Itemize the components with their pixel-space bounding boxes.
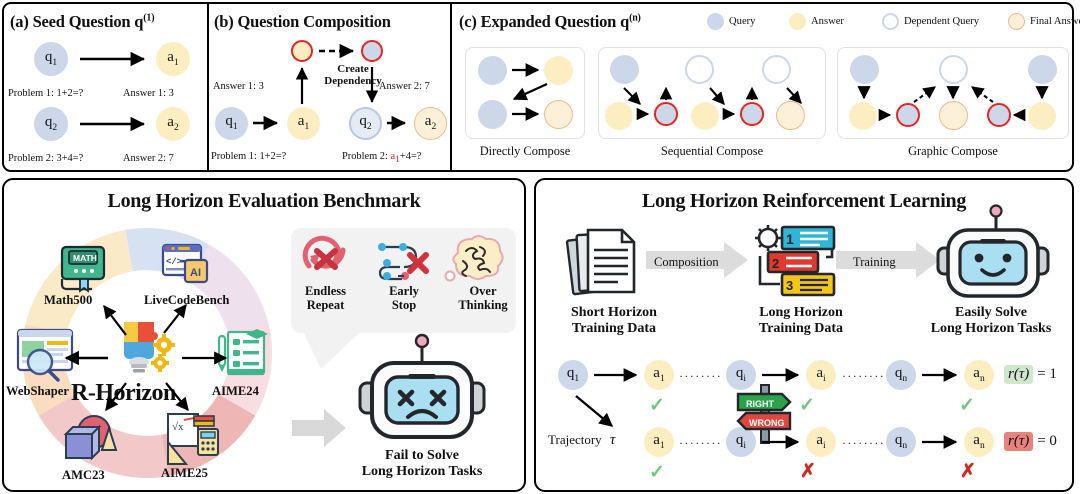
signpost-right-label: RIGHT <box>746 399 775 409</box>
legend-final-answer-label: Final Answer <box>1030 16 1080 27</box>
gc-linked-query-2 <box>987 103 1011 127</box>
legend-final-answer: Final Answer <box>1008 13 1080 30</box>
rl-node-qn-top: qn <box>886 360 916 390</box>
svg-text:AI: AI <box>190 267 201 279</box>
reward-value-top: = 1 <box>1037 366 1057 383</box>
mark-cross-bottom-1: ✗ <box>800 460 816 483</box>
legend-answer: Answer <box>789 13 844 30</box>
center-label-r-horizon: R-Horizon <box>71 380 176 407</box>
benchmark-outcome-text: Fail to Solve Long Horizon Tasks <box>342 448 502 480</box>
stage-label-long-horizon: Long Horizon Training Data <box>741 305 861 337</box>
node-a2: a2 <box>414 107 447 140</box>
svg-text:3: 3 <box>786 278 793 293</box>
code-window-icon: </> AI <box>161 243 217 293</box>
geometry-shapes-icon <box>60 414 122 468</box>
sc-linked-query-1 <box>654 102 678 126</box>
sc-dependent-query-2 <box>762 55 791 84</box>
gc-final-answer <box>939 101 968 130</box>
mark-check-top-3: ✓ <box>959 394 975 417</box>
subpanel-caption-sequential-compose: Sequential Compose <box>598 144 826 159</box>
sc-answer-2 <box>691 102 719 130</box>
failure-callout-box <box>291 228 516 333</box>
figure-root: (a) Seed Question q(1) q1 a1 Problem 1: … <box>0 0 1080 494</box>
legend-answer-swatch <box>789 13 806 30</box>
rl-node-an-top: an <box>964 360 994 390</box>
node-q2: q2 <box>349 107 382 140</box>
svg-text:√x: √x <box>172 421 184 433</box>
svg-text:1: 1 <box>786 231 794 247</box>
panel-a-title-sup: (1) <box>143 13 154 24</box>
rl-ellipsis-bottom-1: ········ <box>679 436 722 451</box>
rl-node-a1-top: a1 <box>644 360 674 390</box>
sc-answer-1 <box>605 102 633 130</box>
documents-stack-icon <box>568 226 648 298</box>
panel-reinforcement-learning: Long Horizon Reinforcement Learning Shor… <box>534 178 1074 492</box>
checklist-icon <box>216 328 274 384</box>
top-strip: (a) Seed Question q(1) q1 a1 Problem 1: … <box>2 2 1074 172</box>
mark-check-top-2: ✓ <box>799 394 815 417</box>
calculator-icon: √x <box>164 412 226 468</box>
failure-label-early-stop: Early Stop <box>369 284 439 312</box>
svg-text:2: 2 <box>772 256 779 271</box>
stage-label-short-horizon: Short Horizon Training Data <box>554 305 674 337</box>
dc-query-1 <box>478 56 507 85</box>
gc-linked-query-1 <box>896 103 920 127</box>
sc-query-1 <box>610 55 639 84</box>
rl-node-ai-top: ai <box>806 360 836 390</box>
node-a1: a1 <box>287 107 320 140</box>
gc-query-2 <box>1028 55 1057 84</box>
answer-2-caption: Answer 2: 7 <box>123 153 174 164</box>
rl-node-qn-bottom: qn <box>886 427 916 457</box>
rl-ellipsis-bottom-2: ········ <box>842 436 885 451</box>
rl-title: Long Horizon Reinforcement Learning <box>536 190 1072 213</box>
legend-final-answer-swatch <box>1008 13 1025 30</box>
legend-dependent-query: Dependent Query <box>882 13 979 30</box>
problem-1-caption: Problem 1: 1+2=? <box>8 88 83 99</box>
dc-final-answer <box>544 100 573 129</box>
panel-b-problem-2: Problem 2: a1+4=? <box>342 151 421 165</box>
rl-node-ai-bottom: ai <box>806 427 836 457</box>
composition-arrow-label: Composition <box>654 255 719 270</box>
node-label: a1 <box>167 50 178 69</box>
panel-evaluation-benchmark: Long Horizon Evaluation Benchmark <box>2 178 526 492</box>
failure-label-over-thinking: Over Thinking <box>444 284 522 312</box>
reward-chip-bottom: r(τ) <box>1004 432 1033 451</box>
svg-text:</>: </> <box>166 257 182 267</box>
rl-node-qi-top: qi <box>726 360 756 390</box>
legend-query-swatch <box>707 13 724 30</box>
node-a1: a1 <box>156 42 190 76</box>
panel-c-title: (c) Expanded Question q(n) <box>459 12 641 32</box>
rl-node-q1-top: q1 <box>558 360 588 390</box>
panel-c: (c) Expanded Question q(n) Query Answer … <box>452 4 1072 170</box>
benchmark-label-math500: Math500 <box>44 293 92 308</box>
dc-answer-1 <box>544 56 573 85</box>
benchmark-label-aime24: AIME24 <box>212 384 259 399</box>
legend-dependent-query-swatch <box>882 13 899 30</box>
legend-dependent-query-label: Dependent Query <box>904 16 979 27</box>
legend-answer-label: Answer <box>811 16 844 27</box>
sad-robot-icon <box>356 335 488 455</box>
benchmark-label-aime25: AIME25 <box>161 466 208 481</box>
failure-label-endless-repeat: Endless Repeat <box>288 284 363 312</box>
web-search-icon <box>16 328 78 384</box>
node-q2: q2 <box>34 107 68 141</box>
answer-1-caption: Answer 1: 3 <box>123 88 174 99</box>
panel-b-title: (b) Question Composition <box>214 12 391 32</box>
sc-final-answer <box>776 101 805 130</box>
sc-linked-query-2 <box>740 102 764 126</box>
node-dep-query-top <box>361 40 383 62</box>
gc-dependent-query <box>939 55 968 84</box>
problem-2-caption: Problem 2: 3+4=? <box>8 153 83 164</box>
signpost-wrong-label: WRONG <box>749 418 785 428</box>
svg-text:MATH: MATH <box>73 253 97 263</box>
rl-node-an-bottom: an <box>964 427 994 457</box>
panel-a-title-text: (a) Seed Question q <box>10 12 143 31</box>
panel-b-answer-2: Answer 2: 7 <box>379 81 430 92</box>
node-label: q1 <box>45 50 57 69</box>
node-label: q2 <box>45 115 57 134</box>
r-horizon-icon <box>112 318 182 380</box>
panel-a: (a) Seed Question q(1) q1 a1 Problem 1: … <box>4 4 209 170</box>
legend-query: Query <box>707 13 755 30</box>
rl-ellipsis-top-2: ········ <box>842 369 885 384</box>
training-arrow-label: Training <box>853 255 896 270</box>
trajectory-symbol: τ <box>610 432 615 448</box>
reward-value-bottom: = 0 <box>1037 433 1057 450</box>
math-book-icon: MATH <box>56 245 110 293</box>
gc-answer-2 <box>1028 102 1056 130</box>
node-dep-answer-top <box>291 40 313 62</box>
benchmark-title: Long Horizon Evaluation Benchmark <box>4 190 524 213</box>
node-q1: q1 <box>34 42 68 76</box>
panel-b-answer-1: Answer 1: 3 <box>213 81 264 92</box>
rl-ellipsis-top-1: ········ <box>679 369 722 384</box>
reward-top: r(τ) = 1 <box>1004 365 1057 384</box>
sc-dependent-query-1 <box>685 55 714 84</box>
benchmark-label-livecodebench: LiveCodeBench <box>144 293 229 308</box>
dc-query-2 <box>478 100 507 129</box>
node-label: a2 <box>167 115 178 134</box>
rl-node-a1-bottom: a1 <box>644 427 674 457</box>
trajectory-label: Trajectory τ <box>548 432 615 449</box>
gc-query-1 <box>850 55 879 84</box>
benchmark-label-webshaper: WebShaper <box>6 384 69 399</box>
mark-check-bottom-1: ✓ <box>649 461 665 484</box>
mark-check-top-1: ✓ <box>649 394 665 417</box>
benchmark-label-amc23: AMC23 <box>62 468 105 483</box>
stage-label-easily-solve: Easily Solve Long Horizon Tasks <box>911 305 1071 337</box>
subpanel-caption-graphic-compose: Graphic Compose <box>837 144 1069 159</box>
happy-robot-icon <box>934 206 1050 306</box>
panel-b-problem-1: Problem 1: 1+2=? <box>211 151 286 162</box>
subpanel-caption-directly-compose: Directly Compose <box>465 144 585 159</box>
reward-bottom: r(τ) = 0 <box>1004 432 1057 451</box>
mark-cross-bottom-2: ✗ <box>960 460 976 483</box>
benchmark-ring <box>22 228 272 478</box>
gc-answer-1 <box>849 102 877 130</box>
reward-chip-top: r(τ) <box>1004 365 1033 384</box>
node-a2: a2 <box>156 107 190 141</box>
numbered-steps-icon: 1 2 3 <box>752 224 852 298</box>
panel-b: (b) Question Composition Create Dependen… <box>209 4 452 170</box>
legend-query-label: Query <box>729 16 755 27</box>
rl-node-qi-bottom: qi <box>726 427 756 457</box>
node-q1: q1 <box>215 107 248 140</box>
panel-a-title: (a) Seed Question q(1) <box>10 12 154 32</box>
